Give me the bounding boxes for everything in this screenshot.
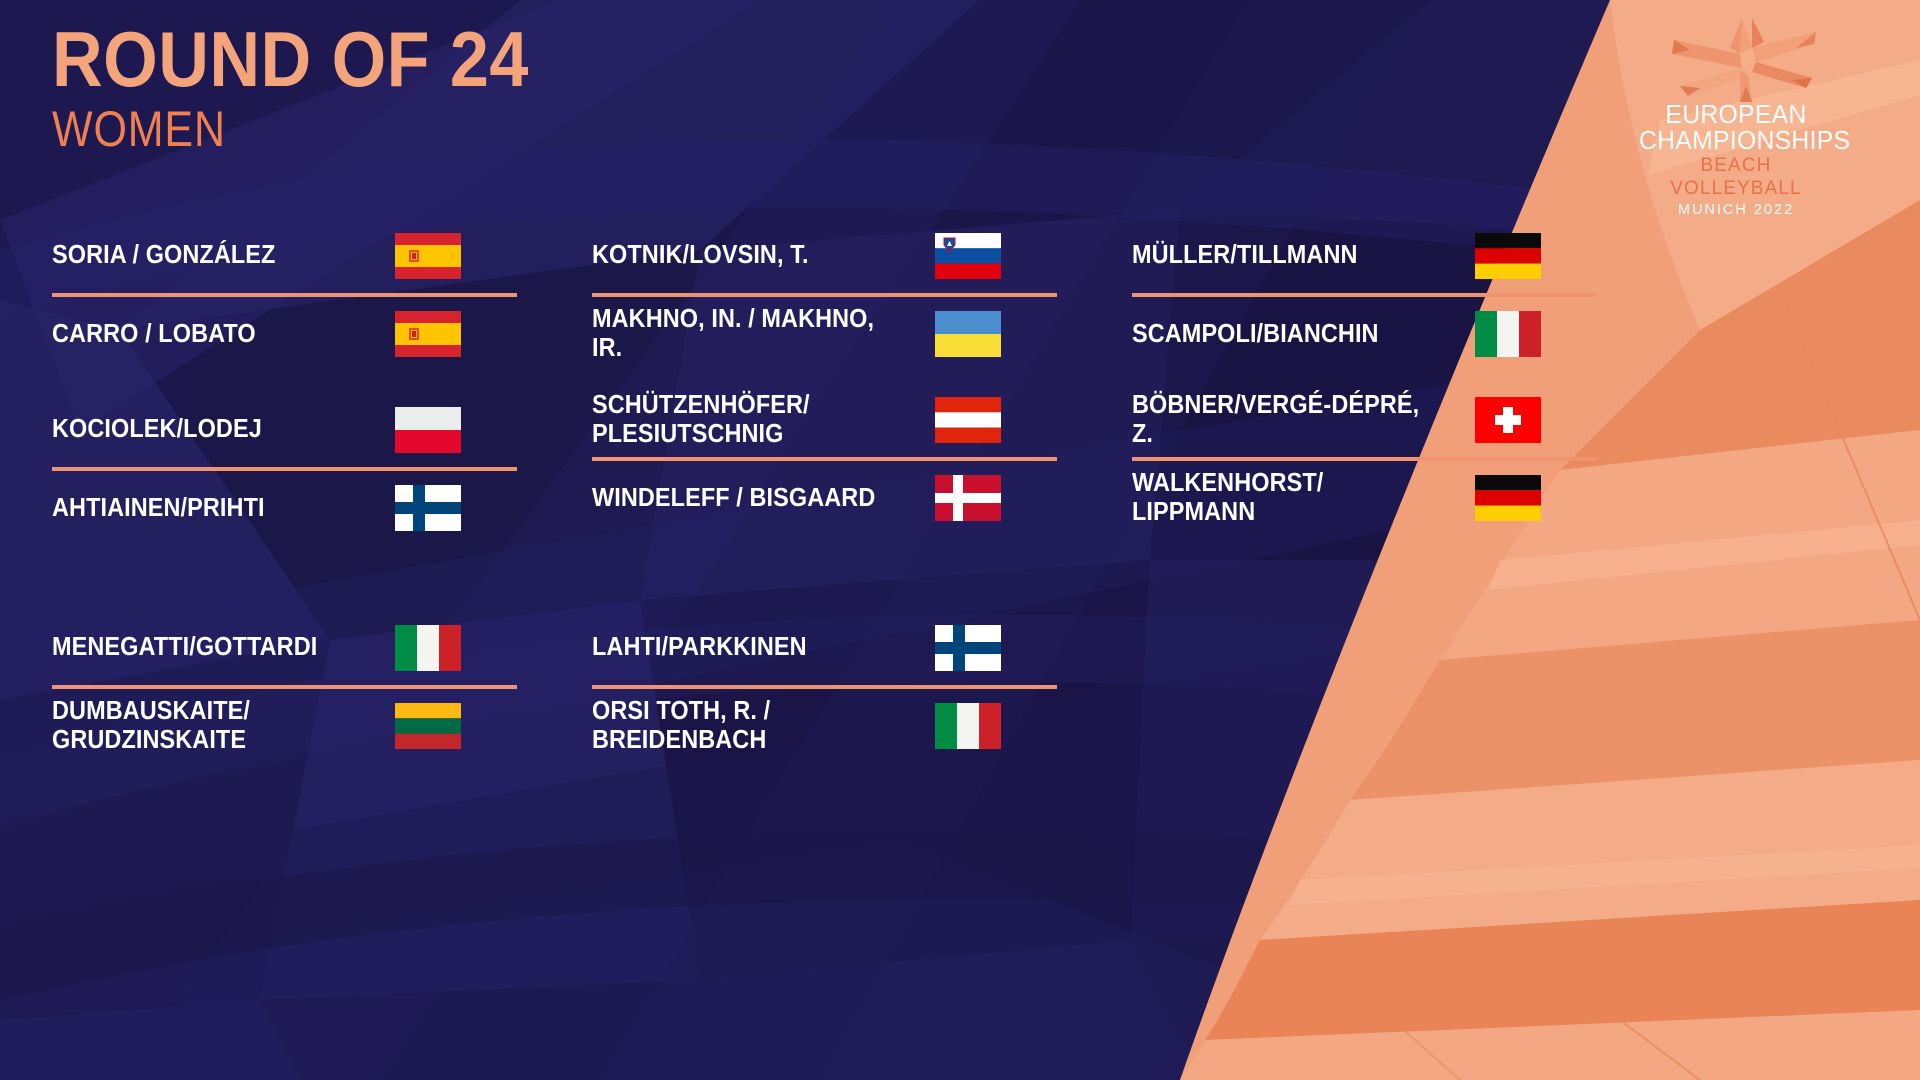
team-name: ORSI TOTH, R. / BREIDENBACH xyxy=(592,697,905,754)
team-name: MÜLLER/TILLMANN xyxy=(1132,241,1445,270)
team-name: WINDELEFF / BISGAARD xyxy=(592,484,905,513)
team-name: SCHÜTZENHÖFER/ PLESIUTSCHNIG xyxy=(592,391,905,448)
team-row[interactable]: MÜLLER/TILLMANN xyxy=(1132,218,1597,293)
flag-icon-slovenia xyxy=(935,233,1001,279)
match-card[interactable]: MÜLLER/TILLMANN SCAMPOLI/BIANCHIN xyxy=(1132,218,1597,372)
team-name: SCAMPOLI/BIANCHIN xyxy=(1132,320,1445,349)
team-row[interactable]: SCHÜTZENHÖFER/ PLESIUTSCHNIG xyxy=(592,382,1057,457)
team-name: MENEGATTI/GOTTARDI xyxy=(52,633,365,662)
flag-icon-finland xyxy=(395,485,461,531)
match-card[interactable]: MENEGATTI/GOTTARDI DUMBAUSKAITE/ GRUDZIN… xyxy=(52,610,517,764)
team-name: AHTIAINEN/PRIHTI xyxy=(52,494,365,523)
team-row[interactable]: DUMBAUSKAITE/ GRUDZINSKAITE xyxy=(52,689,517,764)
match-card[interactable]: SCHÜTZENHÖFER/ PLESIUTSCHNIG WINDELEFF /… xyxy=(592,382,1057,536)
team-row[interactable]: KOTNIK/LOVSIN, T. xyxy=(592,218,1057,293)
matchups-board: SORIA / GONZÁLEZ CARRO / LOBATO xyxy=(0,0,1920,1080)
flag-icon-italy xyxy=(395,625,461,671)
flag-icon-denmark xyxy=(935,475,1001,521)
event-logo: EUROPEAN CHAMPIONSHIPS BEACH VOLLEYBALL … xyxy=(1636,18,1836,219)
match-card[interactable]: SORIA / GONZÁLEZ CARRO / LOBATO xyxy=(52,218,517,372)
team-name: MAKHNO, IN. / MAKHNO, IR. xyxy=(592,305,905,362)
flag-icon-spain xyxy=(395,233,461,279)
flag-icon-germany xyxy=(1475,233,1541,279)
flag-icon-switzerland xyxy=(1475,397,1541,443)
match-card[interactable]: BÖBNER/VERGÉ-DÉPRÉ, Z. WALKENHORST/ LIPP… xyxy=(1132,382,1597,536)
match-card[interactable]: KOTNIK/LOVSIN, T. MAKHNO, IN. / MAKHNO, … xyxy=(592,218,1057,372)
team-row[interactable]: CARRO / LOBATO xyxy=(52,297,517,372)
team-name: LAHTI/PARKKINEN xyxy=(592,633,905,662)
page-title: ROUND OF 24 xyxy=(52,22,529,96)
team-name: SORIA / GONZÁLEZ xyxy=(52,241,365,270)
team-name: CARRO / LOBATO xyxy=(52,320,365,349)
team-name: DUMBAUSKAITE/ GRUDZINSKAITE xyxy=(52,697,365,754)
team-row[interactable]: WALKENHORST/ LIPPMANN xyxy=(1132,461,1597,536)
team-row[interactable]: MENEGATTI/GOTTARDI xyxy=(52,610,517,685)
team-name: WALKENHORST/ LIPPMANN xyxy=(1132,469,1445,526)
flag-icon-lithuania xyxy=(395,703,461,749)
logo-line-city-year: MUNICH 2022 xyxy=(1636,202,1836,219)
flag-icon-spain xyxy=(395,311,461,357)
team-row[interactable]: KOCIOLEK/LODEJ xyxy=(52,392,517,467)
logo-line-sport: BEACH VOLLEYBALL xyxy=(1636,155,1836,201)
team-row[interactable]: LAHTI/PARKKINEN xyxy=(592,610,1057,685)
team-row[interactable]: SORIA / GONZÁLEZ xyxy=(52,218,517,293)
flag-icon-poland xyxy=(395,407,461,453)
team-row[interactable]: BÖBNER/VERGÉ-DÉPRÉ, Z. xyxy=(1132,382,1597,457)
logo-line-european: EUROPEAN xyxy=(1639,102,1833,128)
team-row[interactable]: SCAMPOLI/BIANCHIN xyxy=(1132,297,1597,372)
tournament-bracket-graphic: ROUND OF 24 WOMEN EUROPEAN CHAMPIONSHIPS… xyxy=(0,0,1920,1080)
page-subtitle: WOMEN xyxy=(52,104,508,154)
flag-icon-italy xyxy=(935,703,1001,749)
flag-icon-austria xyxy=(935,397,1001,443)
team-row[interactable]: AHTIAINEN/PRIHTI xyxy=(52,471,517,546)
flag-icon-finland xyxy=(935,625,1001,671)
flag-icon-italy xyxy=(1475,311,1541,357)
flag-icon-ukraine xyxy=(935,311,1001,357)
team-row[interactable]: MAKHNO, IN. / MAKHNO, IR. xyxy=(592,297,1057,372)
match-card[interactable]: LAHTI/PARKKINEN ORSI TOTH, R. / BREIDENB… xyxy=(592,610,1057,764)
logo-line-championships: CHAMPIONSHIPS xyxy=(1639,128,1833,154)
star-icon xyxy=(1656,18,1816,104)
team-name: KOTNIK/LOVSIN, T. xyxy=(592,241,905,270)
team-name: BÖBNER/VERGÉ-DÉPRÉ, Z. xyxy=(1132,391,1445,448)
team-row[interactable]: ORSI TOTH, R. / BREIDENBACH xyxy=(592,689,1057,764)
match-card[interactable]: KOCIOLEK/LODEJ AHTIAINEN/PRIHTI xyxy=(52,392,517,546)
team-row[interactable]: WINDELEFF / BISGAARD xyxy=(592,461,1057,536)
page-header: ROUND OF 24 WOMEN xyxy=(52,22,582,154)
flag-icon-germany xyxy=(1475,475,1541,521)
team-name: KOCIOLEK/LODEJ xyxy=(52,415,365,444)
